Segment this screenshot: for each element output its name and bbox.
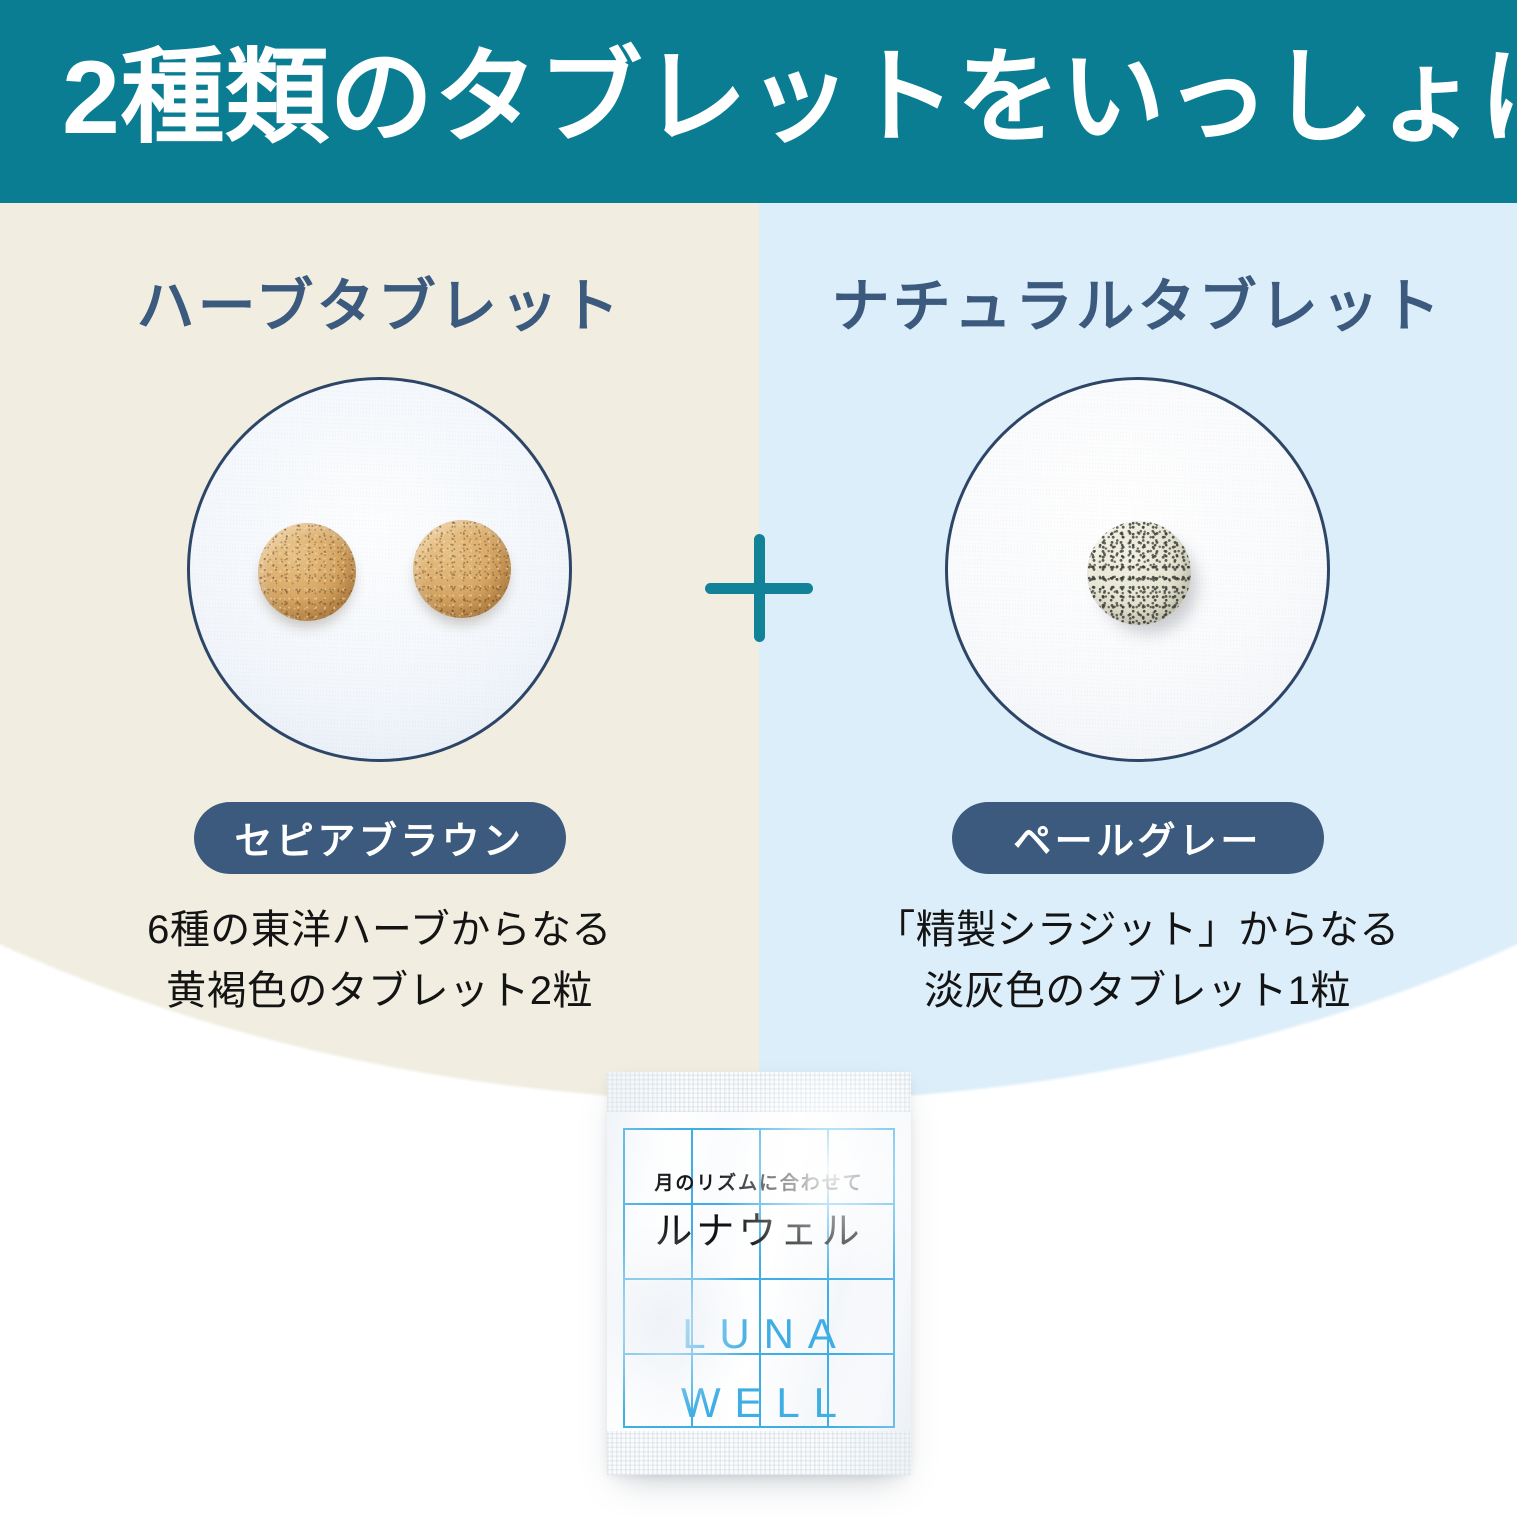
column-heading-natural: ナチュラルタブレット bbox=[832, 275, 1444, 339]
plus-icon-vertical-bar bbox=[754, 534, 765, 642]
description-herb: 6種の東洋ハーブからなる 黄褐色のタブレット2粒 bbox=[147, 900, 612, 1022]
tablet-photo-herb bbox=[187, 377, 572, 762]
column-heading-herb: ハーブタブレット bbox=[136, 275, 622, 339]
tablet-brown-1 bbox=[258, 523, 356, 621]
sachet-grid-h1 bbox=[623, 1128, 895, 1130]
column-herb-tablet: ハーブタブレット セピアブラウン 6種の東洋ハーブからなる 黄褐色のタブレット2… bbox=[0, 203, 759, 1103]
plus-icon bbox=[705, 534, 813, 642]
sachet-brand-line-1: LUNA bbox=[623, 1310, 895, 1358]
sachet-grid-h3 bbox=[623, 1278, 895, 1280]
header-band: 2種類のタブレットをいっしょに bbox=[0, 0, 1517, 203]
tablet-photo-natural bbox=[945, 377, 1330, 762]
description-herb-line-2: 黄褐色のタブレット2粒 bbox=[147, 961, 612, 1022]
description-natural: 「精製シラジット」からなる 淡灰色のタブレット1粒 bbox=[875, 900, 1399, 1022]
status-badge-sepia-brown: セピアブラウン bbox=[194, 802, 566, 874]
description-herb-line-1: 6種の東洋ハーブからなる bbox=[147, 900, 612, 961]
product-sachet: 月のリズムに合わせて ルナウェル LUNA WELL bbox=[607, 1072, 911, 1475]
column-natural-tablet: ナチュラルタブレット ペールグレー 「精製シラジット」からなる 淡灰色のタブレッ… bbox=[758, 203, 1517, 1103]
page-title: 2種類のタブレットをいっしょに bbox=[62, 46, 1517, 150]
product-infographic: 2種類のタブレットをいっしょに ハーブタブレット セピアブラウン 6種の東洋ハー… bbox=[0, 0, 1517, 1517]
sachet-crimp-bottom bbox=[607, 1431, 911, 1475]
sachet-brand-line-2: WELL bbox=[623, 1379, 895, 1427]
tablet-grey-1 bbox=[1087, 521, 1191, 625]
description-natural-line-1: 「精製シラジット」からなる bbox=[875, 900, 1399, 961]
status-badge-pale-grey: ペールグレー bbox=[952, 802, 1324, 874]
sachet-tagline: 月のリズムに合わせて bbox=[623, 1168, 895, 1195]
tablet-brown-2 bbox=[413, 520, 511, 618]
description-natural-line-2: 淡灰色のタブレット1粒 bbox=[875, 961, 1399, 1022]
sachet-crimp-top bbox=[607, 1072, 911, 1112]
sachet-product-name: ルナウェル bbox=[623, 1200, 895, 1255]
